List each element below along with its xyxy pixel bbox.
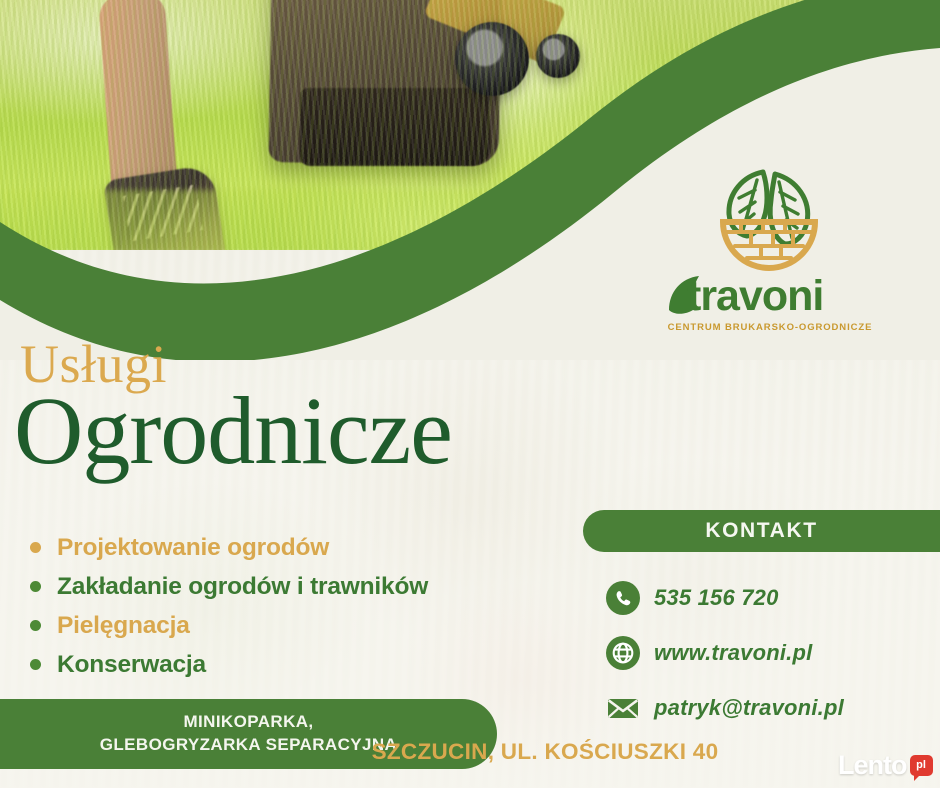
advertisement-poster: travoni CENTRUM BRUKARSKO-OGRODNICZE Usł… [0, 0, 940, 788]
bullet-dot-icon [30, 542, 41, 553]
svg-text:travoni: travoni [687, 272, 823, 320]
contact-list: 535 156 720 www.travoni.pl patryk@travon… [606, 570, 940, 735]
contact-phone-value: 535 156 720 [654, 585, 779, 611]
watermark-name: Lento [838, 752, 907, 779]
service-label: Pielęgnacja [57, 612, 190, 640]
service-label: Konserwacja [57, 651, 206, 679]
service-label: Projektowanie ogrodów [57, 534, 329, 562]
list-item: Zakładanie ogrodów i trawników [30, 567, 570, 606]
logo-tagline: CENTRUM BRUKARSKO-OGRODNICZE [665, 322, 875, 333]
list-item: Pielęgnacja [30, 606, 570, 645]
company-logo: travoni CENTRUM BRUKARSKO-OGRODNICZE [665, 160, 875, 350]
bullet-dot-icon [30, 581, 41, 592]
logo-wordmark: travoni [665, 270, 875, 322]
bullet-dot-icon [30, 620, 41, 631]
machines-line-1: MINIKOPARKA, [183, 711, 313, 734]
headline-line-2: Ogrodnicze [14, 385, 614, 476]
globe-icon [606, 636, 640, 670]
logo-mark-icon [713, 160, 825, 272]
contact-email-value: patryk@travoni.pl [654, 695, 844, 721]
phone-icon [606, 581, 640, 615]
contact-heading-bar: KONTAKT [583, 510, 940, 552]
contact-row-phone[interactable]: 535 156 720 [606, 570, 940, 625]
address-line: SZCZUCIN, UL. KOŚCIUSZKI 40 [0, 739, 940, 765]
list-item: Konserwacja [30, 645, 570, 684]
contact-row-email[interactable]: patryk@travoni.pl [606, 680, 940, 735]
bullet-dot-icon [30, 659, 41, 670]
list-item: Projektowanie ogrodów [30, 528, 570, 567]
lento-watermark: Lento pl [838, 752, 933, 779]
contact-heading-label: KONTAKT [705, 519, 817, 543]
watermark-suffix: pl [916, 760, 926, 771]
contact-row-website[interactable]: www.travoni.pl [606, 625, 940, 680]
page-title: Usługi Ogrodnicze [14, 338, 614, 476]
envelope-icon [606, 691, 640, 725]
service-label: Zakładanie ogrodów i trawników [57, 573, 428, 601]
services-list: Projektowanie ogrodów Zakładanie ogrodów… [30, 528, 570, 684]
watermark-bubble-icon: pl [910, 755, 933, 776]
contact-website-value: www.travoni.pl [654, 640, 812, 666]
